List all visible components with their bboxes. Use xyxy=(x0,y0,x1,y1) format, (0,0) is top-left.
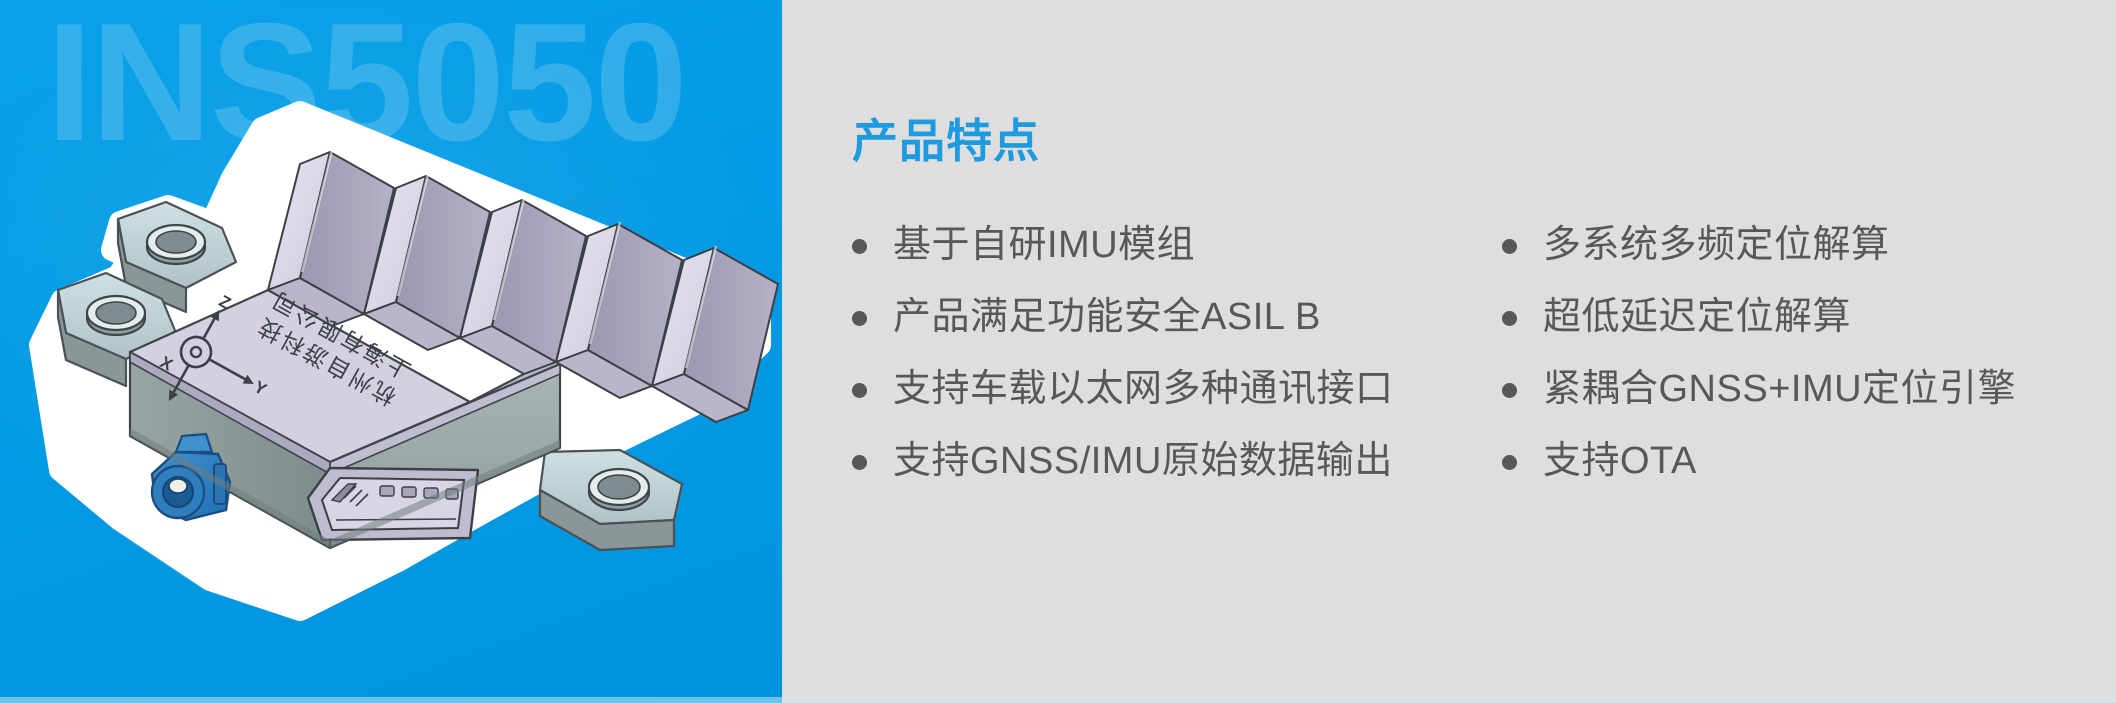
bullet-icon xyxy=(852,239,867,254)
main-connector xyxy=(308,468,478,540)
right-features-panel: 产品特点 基于自研IMU模组 产品满足功能安全ASIL B 支持车载以太网多种通… xyxy=(782,0,2116,703)
features-column-left: 基于自研IMU模组 产品满足功能安全ASIL B 支持车载以太网多种通讯接口 支… xyxy=(852,222,1502,510)
bullet-icon xyxy=(1502,455,1517,470)
mounting-bracket-right xyxy=(540,450,682,550)
bullet-icon xyxy=(1502,311,1517,326)
bullet-icon xyxy=(852,311,867,326)
features-column-right: 多系统多频定位解算 超低延迟定位解算 紧耦合GNSS+IMU定位引擎 支持OTA xyxy=(1502,222,2116,510)
bottom-divider xyxy=(0,697,2116,703)
feature-label: 基于自研IMU模组 xyxy=(893,222,1195,268)
list-item: 基于自研IMU模组 xyxy=(852,222,1502,270)
feature-label: 支持车载以太网多种通讯接口 xyxy=(893,366,1394,412)
feature-label: 多系统多频定位解算 xyxy=(1543,222,1890,268)
feature-label: 产品满足功能安全ASIL B xyxy=(893,294,1321,340)
list-item: 支持车载以太网多种通讯接口 xyxy=(852,366,1502,414)
product-image: Z Y X 杭州自游科技 上海有限公司 xyxy=(0,0,782,703)
list-item: 支持OTA xyxy=(1502,438,2116,486)
bullet-icon xyxy=(852,383,867,398)
left-blue-panel: INS5050 xyxy=(0,0,782,703)
list-item: 超低延迟定位解算 xyxy=(1502,294,2116,342)
feature-label: 支持OTA xyxy=(1543,438,1697,484)
features-columns: 基于自研IMU模组 产品满足功能安全ASIL B 支持车载以太网多种通讯接口 支… xyxy=(852,222,2106,510)
feature-label: 超低延迟定位解算 xyxy=(1543,294,1851,340)
list-item: 紧耦合GNSS+IMU定位引擎 xyxy=(1502,366,2116,414)
feature-label: 紧耦合GNSS+IMU定位引擎 xyxy=(1543,366,2016,412)
list-item: 多系统多频定位解算 xyxy=(1502,222,2116,270)
bullet-icon xyxy=(1502,239,1517,254)
features-heading: 产品特点 xyxy=(852,118,1040,164)
bullet-icon xyxy=(1502,383,1517,398)
product-banner: INS5050 xyxy=(0,0,2116,703)
feature-label: 支持GNSS/IMU原始数据输出 xyxy=(893,438,1393,484)
list-item: 支持GNSS/IMU原始数据输出 xyxy=(852,438,1502,486)
bullet-icon xyxy=(852,455,867,470)
list-item: 产品满足功能安全ASIL B xyxy=(852,294,1502,342)
